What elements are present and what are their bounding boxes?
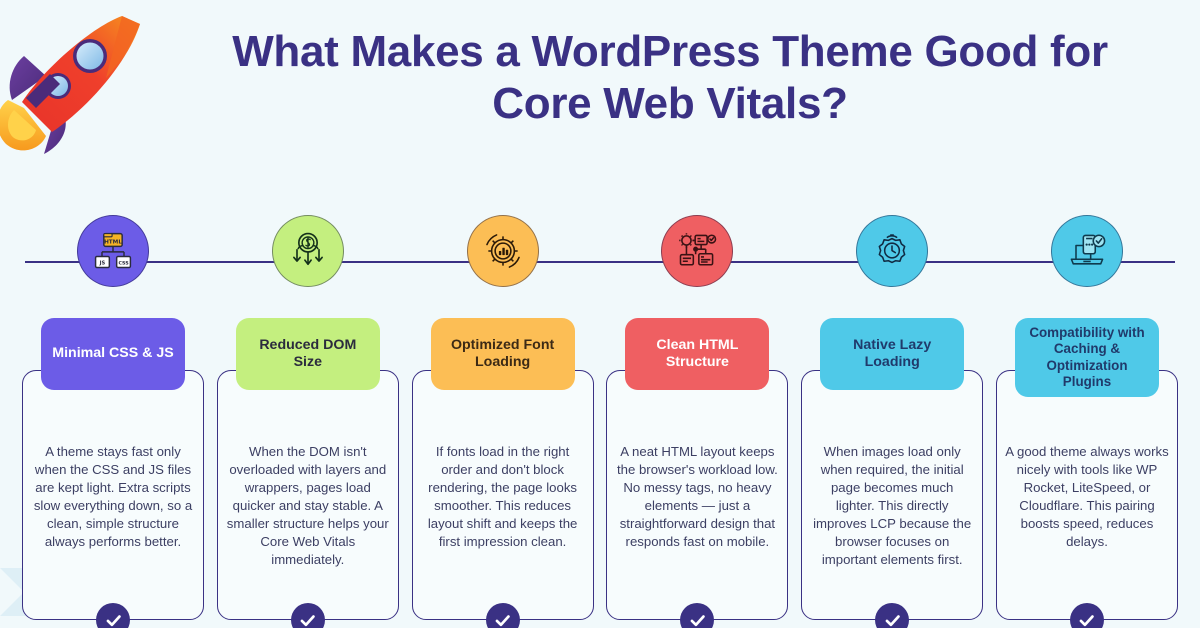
step-4-card: A neat HTML layout keeps the browser's w… xyxy=(606,370,788,620)
infographic-canvas: What Makes a WordPress Theme Good for Co… xyxy=(0,0,1200,628)
step-1-label: Minimal CSS & JS xyxy=(52,345,173,362)
step-column-1[interactable]: HTML JS CSS A theme stays fast only when… xyxy=(22,215,204,615)
svg-text:CSS: CSS xyxy=(118,260,129,266)
rocket-icon xyxy=(0,4,174,169)
gear-analytics-icon xyxy=(481,229,525,273)
check-icon xyxy=(104,611,123,628)
step-2-icon-circle[interactable] xyxy=(272,215,344,287)
step-4-description: A neat HTML layout keeps the browser's w… xyxy=(615,443,779,551)
laptop-phone-check-icon xyxy=(1065,229,1109,273)
step-4-label-badge[interactable]: Clean HTML Structure xyxy=(625,318,769,390)
step-3-icon-circle[interactable] xyxy=(467,215,539,287)
step-column-4[interactable]: A neat HTML layout keeps the browser's w… xyxy=(606,215,788,615)
check-icon xyxy=(298,611,317,628)
check-icon xyxy=(688,611,707,628)
step-6-card: A good theme always works nicely with to… xyxy=(996,370,1178,620)
cost-reduction-icon xyxy=(286,229,330,273)
step-2-description: When the DOM isn't overloaded with layer… xyxy=(226,443,390,569)
step-column-5[interactable]: When images load only when required, the… xyxy=(801,215,983,615)
steps-container: HTML JS CSS A theme stays fast only when… xyxy=(0,215,1200,615)
step-1-label-badge[interactable]: Minimal CSS & JS xyxy=(41,318,185,390)
step-5-card: When images load only when required, the… xyxy=(801,370,983,620)
step-column-2[interactable]: When the DOM isn't overloaded with layer… xyxy=(217,215,399,615)
step-6-label: Compatibility with Caching & Optimizatio… xyxy=(1023,325,1151,390)
step-2-label-badge[interactable]: Reduced DOM Size xyxy=(236,318,380,390)
check-icon xyxy=(1077,611,1096,628)
step-5-label-badge[interactable]: Native Lazy Loading xyxy=(820,318,964,390)
step-3-description: If fonts load in the right order and don… xyxy=(421,443,585,551)
step-3-card: If fonts load in the right order and don… xyxy=(412,370,594,620)
page-title: What Makes a WordPress Theme Good for Co… xyxy=(160,26,1180,130)
svg-text:HTML: HTML xyxy=(104,240,122,246)
title-line-2: Core Web Vitals? xyxy=(160,78,1180,130)
gear-clock-icon xyxy=(870,229,914,273)
step-column-3[interactable]: If fonts load in the right order and don… xyxy=(412,215,594,615)
step-5-description: When images load only when required, the… xyxy=(810,443,974,569)
structure-diagram-icon xyxy=(675,229,719,273)
step-2-label: Reduced DOM Size xyxy=(244,337,372,372)
step-5-label: Native Lazy Loading xyxy=(828,337,956,372)
html-js-css-tree-icon: HTML JS CSS xyxy=(91,229,135,273)
step-6-description: A good theme always works nicely with to… xyxy=(1005,443,1169,551)
title-line-1: What Makes a WordPress Theme Good for xyxy=(232,27,1108,76)
step-4-label: Clean HTML Structure xyxy=(633,337,761,372)
svg-text:JS: JS xyxy=(99,260,106,266)
step-6-label-badge[interactable]: Compatibility with Caching & Optimizatio… xyxy=(1015,318,1159,397)
check-icon xyxy=(493,611,512,628)
step-1-card: A theme stays fast only when the CSS and… xyxy=(22,370,204,620)
step-1-description: A theme stays fast only when the CSS and… xyxy=(31,443,195,551)
step-6-icon-circle[interactable] xyxy=(1051,215,1123,287)
step-1-icon-circle[interactable]: HTML JS CSS xyxy=(77,215,149,287)
check-icon xyxy=(883,611,902,628)
step-2-card: When the DOM isn't overloaded with layer… xyxy=(217,370,399,620)
step-3-label: Optimized Font Loading xyxy=(439,337,567,372)
step-column-6[interactable]: A good theme always works nicely with to… xyxy=(996,215,1178,615)
step-3-label-badge[interactable]: Optimized Font Loading xyxy=(431,318,575,390)
step-5-icon-circle[interactable] xyxy=(856,215,928,287)
step-4-icon-circle[interactable] xyxy=(661,215,733,287)
